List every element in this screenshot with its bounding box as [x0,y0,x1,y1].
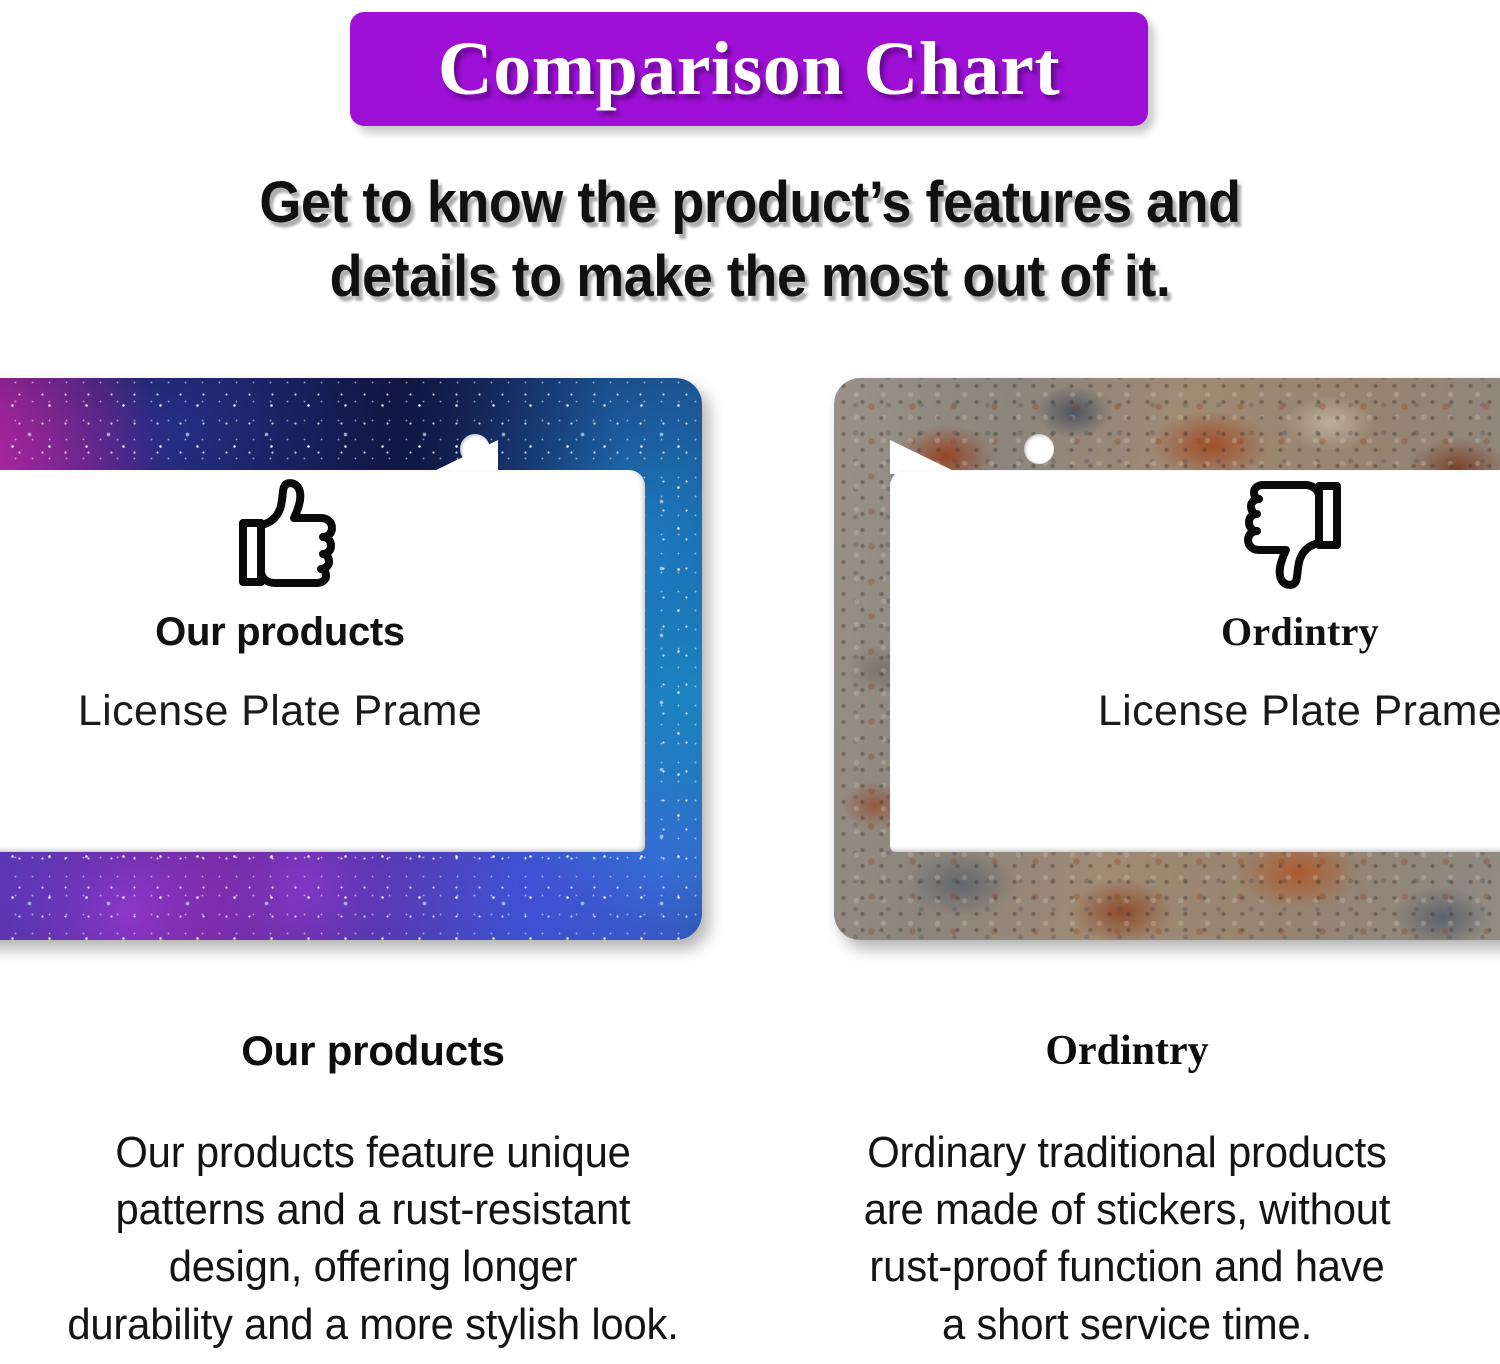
bottom-body-ordinary-line-1: Ordinary traditional products [799,1124,1455,1181]
product-comparison-images: Our products License Plate Prame Ordintr… [0,370,1500,970]
bottom-heading-ordinary: Ordintry [782,1030,1472,1072]
license-plate-frame-ours: Our products License Plate Prame [0,378,702,940]
subtitle-line-2: details to make the most out of it. [53,240,1448,314]
plate-subtitle-ordinary: License Plate Prame [890,690,1500,733]
bottom-body-ours-line-4: durability and a more stylish look. [45,1296,701,1353]
plate-window-notch [890,440,960,474]
comparison-column-ordinary: Ordintry Ordinary traditional products a… [782,1030,1472,1353]
plate-heading-ordinary: Ordintry [890,612,1500,652]
bottom-body-ours-line-2: patterns and a rust-resistant [45,1181,701,1238]
mounting-hole [1024,434,1054,464]
plate-content-ours: Our products License Plate Prame [0,478,560,733]
subtitle-line-1: Get to know the product’s features and [53,166,1448,240]
bottom-body-ordinary-line-4: a short service time. [799,1296,1455,1353]
comparison-column-ours: Our products Our products feature unique… [28,1030,718,1353]
plate-subtitle-ours: License Plate Prame [0,690,560,733]
plate-content-ordinary: Ordintry License Plate Prame [890,478,1500,733]
bottom-body-ordinary-line-2: are made of stickers, without [799,1181,1455,1238]
bottom-body-ordinary-line-3: rust-proof function and have [799,1238,1455,1295]
plate-window-notch [428,440,498,474]
page-subtitle: Get to know the product’s features and d… [53,166,1448,314]
plate-heading-ours: Our products [0,612,560,652]
thumbs-up-icon [221,478,339,590]
bottom-heading-ours: Our products [28,1030,718,1072]
comparison-chart-title-banner: Comparison Chart [350,12,1148,126]
bottom-body-ours-line-1: Our products feature unique [45,1124,701,1181]
bottom-body-ordinary: Ordinary traditional products are made o… [799,1124,1455,1353]
bottom-body-ours: Our products feature unique patterns and… [45,1124,701,1353]
thumbs-down-icon [1241,478,1359,590]
license-plate-frame-ordinary: Ordintry License Plate Prame [834,378,1500,940]
bottom-body-ours-line-3: design, offering longer [45,1238,701,1295]
page-title: Comparison Chart [438,31,1060,107]
